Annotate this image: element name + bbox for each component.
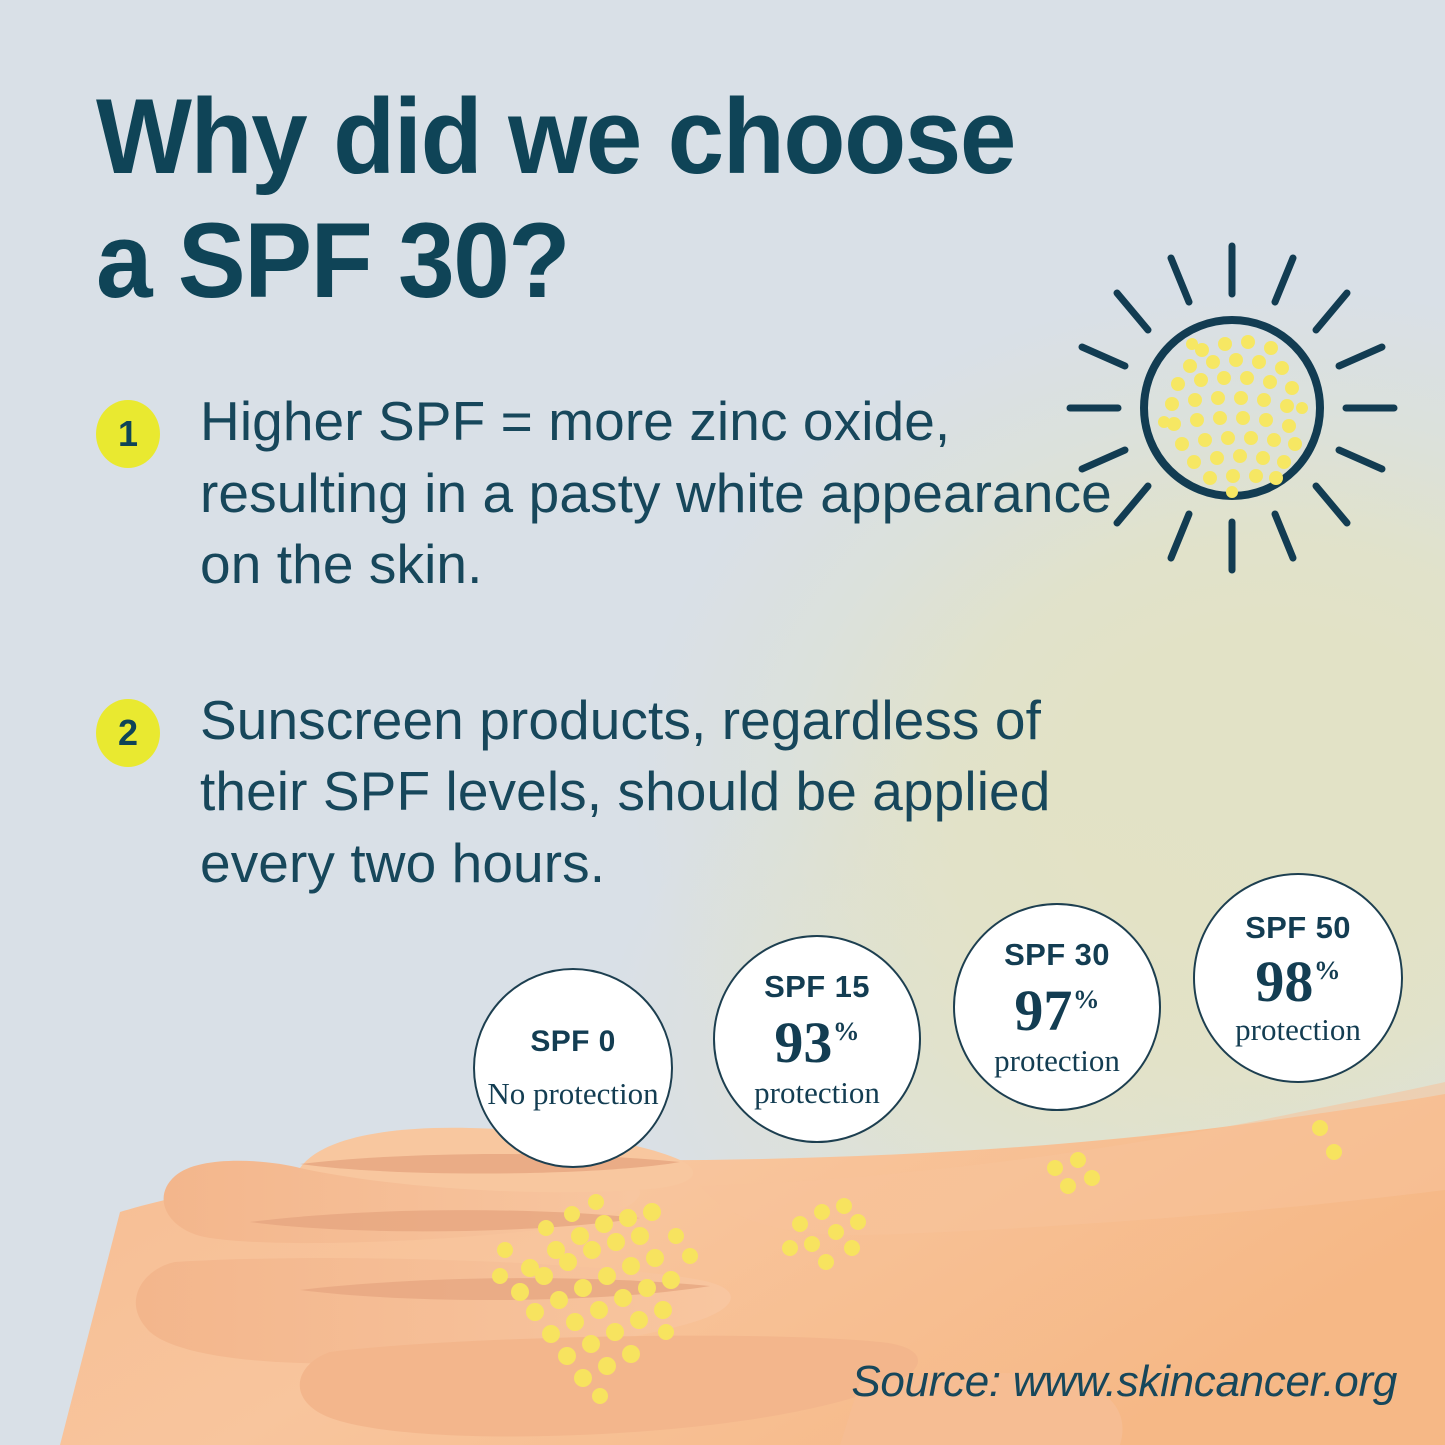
spf-label: SPF 30 — [1004, 937, 1110, 973]
percent-sign-icon: % — [1314, 957, 1341, 984]
list-item: 1 Higher SPF = more zinc oxide, resultin… — [96, 386, 1126, 601]
list-item: 2 Sunscreen products, regardless of thei… — [96, 685, 1126, 900]
spf-percent-value: 98 — [1255, 954, 1313, 1009]
list-number-badge: 2 — [96, 699, 160, 767]
spf-label: SPF 50 — [1245, 910, 1351, 946]
spf-bubble-2: SPF 30 97 % protection — [953, 903, 1161, 1111]
spf-label: SPF 0 — [530, 1025, 615, 1059]
list-number-badge: 1 — [96, 400, 160, 468]
spf-percent: 93 % — [774, 1015, 859, 1070]
page-title: Why did we choose a SPF 30? — [96, 74, 1217, 322]
list-item-text: Sunscreen products, regardless of their … — [200, 685, 1126, 900]
spf-label: SPF 15 — [764, 969, 870, 1005]
spf-bubble-3: SPF 50 98 % protection — [1193, 873, 1403, 1083]
page-title-line-1: Why did we choose — [96, 76, 1015, 196]
spf-percent: 98 % — [1255, 954, 1340, 1009]
percent-sign-icon: % — [1073, 986, 1100, 1013]
points-list: 1 Higher SPF = more zinc oxide, resultin… — [96, 386, 1126, 899]
spf-percent-value: 93 — [774, 1015, 832, 1070]
spf-percent-value: 97 — [1014, 983, 1072, 1038]
spf-bubble-0: SPF 0 No protection — [473, 968, 673, 1168]
spf-percent: 97 % — [1014, 983, 1099, 1038]
spf-bubble-1: SPF 15 93 % protection — [713, 935, 921, 1143]
infographic-canvas: Why did we choose a SPF 30? 1 Higher SPF… — [0, 0, 1445, 1445]
spf-sub: protection — [1235, 1013, 1361, 1046]
spf-sub: protection — [994, 1044, 1120, 1077]
source-attribution: Source: www.skincancer.org — [851, 1357, 1397, 1407]
list-item-text: Higher SPF = more zinc oxide, resulting … — [200, 386, 1126, 601]
spf-sub: No protection — [487, 1077, 658, 1110]
spf-sub: protection — [754, 1076, 880, 1109]
page-title-line-2: a SPF 30? — [96, 198, 1217, 322]
percent-sign-icon: % — [833, 1018, 860, 1045]
